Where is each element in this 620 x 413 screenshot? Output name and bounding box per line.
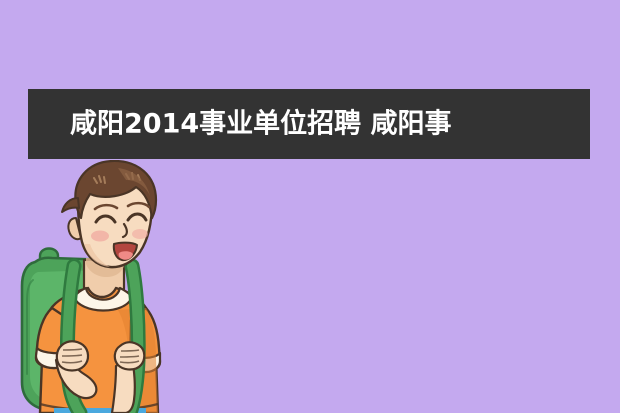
right-blush bbox=[132, 229, 148, 239]
left-blush bbox=[91, 231, 109, 242]
title-banner: 咸阳2014事业单位招聘 咸阳事 bbox=[28, 89, 590, 159]
page-title: 咸阳2014事业单位招聘 咸阳事 bbox=[70, 111, 452, 138]
student-with-backpack-illustration bbox=[0, 160, 240, 413]
screenshot-root: 咸阳2014事业单位招聘 咸阳事 bbox=[0, 0, 620, 413]
head bbox=[62, 161, 156, 267]
student-illustration-svg bbox=[0, 160, 240, 413]
